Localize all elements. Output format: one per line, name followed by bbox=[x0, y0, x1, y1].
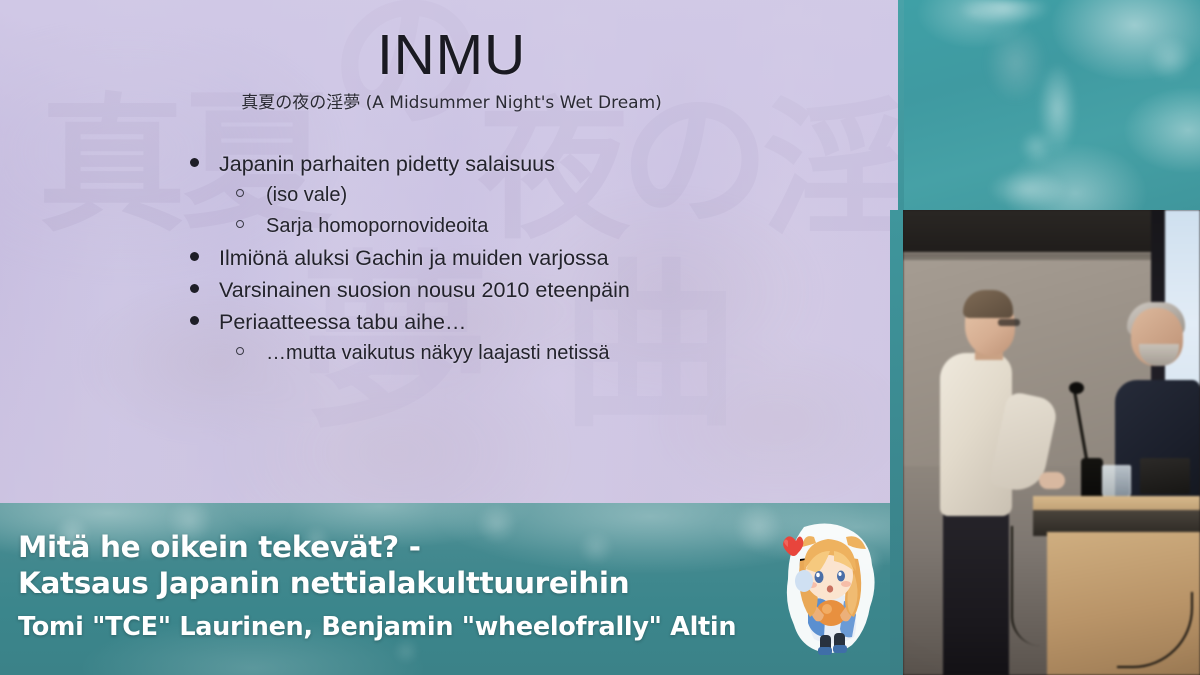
bullet-text: (iso vale) bbox=[266, 180, 347, 211]
laptop bbox=[1140, 458, 1190, 494]
bullet-item: (iso vale) bbox=[236, 180, 850, 211]
bullet-item: …mutta vaikutus näkyy laajasti netissä bbox=[236, 338, 850, 369]
camera-scene bbox=[903, 210, 1200, 675]
slide-title: INMU bbox=[0, 22, 903, 88]
slide-bullet-list: Japanin parhaiten pidetty salaisuus(iso … bbox=[190, 148, 850, 369]
bullet-item: Varsinainen suosion nousu 2010 eteenpäin bbox=[190, 274, 850, 306]
bullet-text: …mutta vaikutus näkyy laajasti netissä bbox=[266, 338, 610, 369]
teal-watercolor-panel bbox=[903, 0, 1200, 210]
bullet-disc-icon bbox=[190, 252, 199, 261]
wall-seam bbox=[903, 254, 1161, 260]
bullet-item: Ilmiönä aluksi Gachin ja muiden varjossa bbox=[190, 242, 850, 274]
bullet-disc-icon bbox=[190, 158, 199, 167]
lower-third-banner: Mitä he oikein tekevät? - Katsaus Japani… bbox=[0, 503, 903, 675]
water-glass bbox=[1102, 465, 1131, 497]
banner-title-line-1: Mitä he oikein tekevät? - bbox=[18, 529, 758, 565]
banner-title-line-2: Katsaus Japanin nettialakulttuureihin bbox=[18, 565, 758, 601]
bullet-disc-icon bbox=[190, 284, 199, 293]
bullet-circle-icon bbox=[236, 347, 244, 355]
cable-2 bbox=[1011, 526, 1051, 646]
bullet-item: Japanin parhaiten pidetty salaisuus bbox=[190, 148, 850, 180]
bullet-text: Ilmiönä aluksi Gachin ja muiden varjossa bbox=[219, 242, 609, 274]
projection-screen-edge bbox=[903, 210, 1161, 252]
bullet-item: Periaatteessa tabu aihe… bbox=[190, 306, 850, 338]
presentation-slide: 真 夏 の 夜 の 淫 夢 曲 INMU 真夏の夜の淫夢 (A Midsumme… bbox=[0, 0, 903, 503]
video-left-gutter bbox=[890, 210, 903, 675]
microphone-head-icon bbox=[1069, 382, 1084, 394]
bullet-text: Varsinainen suosion nousu 2010 eteenpäin bbox=[219, 274, 630, 306]
lecture-camera-feed bbox=[903, 210, 1200, 675]
banner-presenters: Tomi "TCE" Laurinen, Benjamin "wheelofra… bbox=[18, 610, 758, 644]
standing-presenter-hand bbox=[1039, 472, 1065, 489]
watercolor-texture bbox=[903, 0, 1200, 210]
stream-composite-view: 真 夏 の 夜 の 淫 夢 曲 INMU 真夏の夜の淫夢 (A Midsumme… bbox=[0, 0, 1200, 675]
bullet-text: Sarja homopornovideoita bbox=[266, 211, 488, 242]
bullet-item: Sarja homopornovideoita bbox=[236, 211, 850, 242]
standing-presenter-glasses bbox=[998, 319, 1020, 326]
bullet-disc-icon bbox=[190, 316, 199, 325]
standing-presenter-legs bbox=[943, 507, 1009, 675]
bullet-circle-icon bbox=[236, 220, 244, 228]
bullet-text: Periaatteessa tabu aihe… bbox=[219, 306, 466, 338]
slide-subtitle: 真夏の夜の淫夢 (A Midsummer Night's Wet Dream) bbox=[0, 88, 903, 113]
bullet-circle-icon bbox=[236, 189, 244, 197]
banner-text-block: Mitä he oikein tekevät? - Katsaus Japani… bbox=[18, 529, 758, 644]
watermark-kanji-1: 真 bbox=[38, 92, 189, 240]
chibi-anime-girl-sticker-icon bbox=[774, 519, 888, 659]
standing-presenter-hair bbox=[963, 290, 1013, 318]
bullet-text: Japanin parhaiten pidetty salaisuus bbox=[219, 148, 555, 180]
